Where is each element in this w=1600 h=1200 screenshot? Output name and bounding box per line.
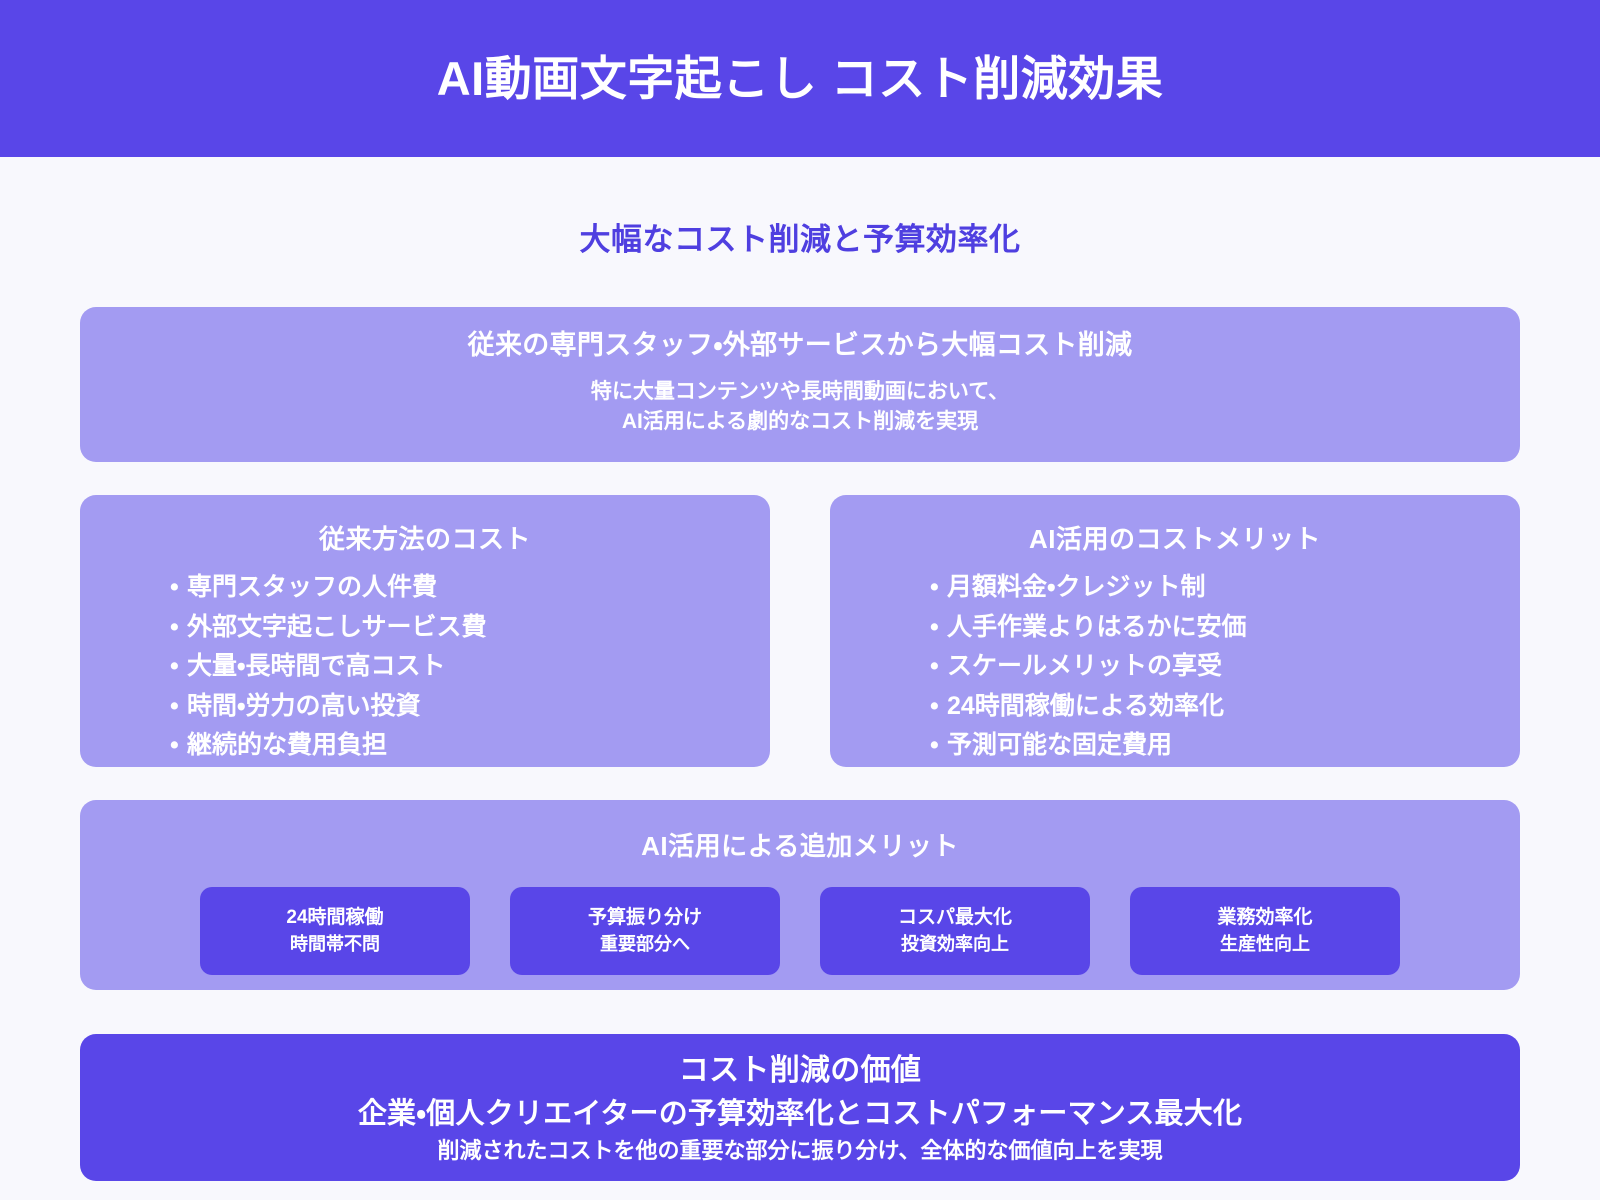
list-item: スケールメリットの享受 (930, 647, 1492, 687)
comparison-row: 従来方法のコスト 専門スタッフの人件費 外部文字起こしサービス費 大量・長時間で… (80, 495, 1520, 767)
benefit-chip-subtext: 時間帯不問 (290, 934, 380, 956)
comparison-card-traditional-cost: 従来方法のコスト 専門スタッフの人件費 外部文字起こしサービス費 大量・長時間で… (80, 495, 770, 767)
extra-benefits-chip-row: 24時間稼働 時間帯不問 予算振り分け 重要部分へ コスパ最大化 投資効率向上 … (80, 887, 1520, 975)
benefit-chip-subtext: 生産性向上 (1220, 934, 1310, 956)
benefit-chip-heading: 業務効率化 (1217, 907, 1312, 930)
page-title: AI動画文字起こし コスト削減効果 (437, 53, 1164, 105)
benefit-chip-subtext: 重要部分へ (600, 934, 690, 956)
extra-benefits-title: AI活用による追加メリット (80, 826, 1520, 863)
list-item: 大量・長時間で高コスト (170, 647, 742, 687)
page-header: AI動画文字起こし コスト削減効果 (0, 0, 1600, 157)
benefit-chip-heading: 24時間稼働 (286, 907, 383, 930)
benefit-chip-cost-performance: コスパ最大化 投資効率向上 (820, 887, 1090, 975)
benefit-chip-24h-operation: 24時間稼働 時間帯不問 (200, 887, 470, 975)
footer-value-banner: コスト削減の価値 企業・個人クリエイターの予算効率化とコストパフォーマンス最大化… (80, 1034, 1520, 1181)
page-content: 大幅なコスト削減と予算効率化 従来の専門スタッフ・外部サービスから大幅コスト削減… (0, 214, 1600, 1181)
comparison-card-title: AI活用のコストメリット (858, 519, 1492, 556)
hero-title: 従来の専門スタッフ・外部サービスから大幅コスト削減 (120, 329, 1480, 363)
list-item: 継続的な費用負担 (170, 726, 742, 766)
benefit-chip-heading: コスパ最大化 (898, 907, 1012, 930)
comparison-card-ai-benefit: AI活用のコストメリット 月額料金・クレジット制 人手作業よりはるかに安価 スケ… (830, 495, 1520, 767)
list-item: 時間・労力の高い投資 (170, 687, 742, 727)
list-item: 人手作業よりはるかに安価 (930, 608, 1492, 648)
comparison-card-list: 月額料金・クレジット制 人手作業よりはるかに安価 スケールメリットの享受 24時… (858, 568, 1492, 766)
infographic-page: AI動画文字起こし コスト削減効果 大幅なコスト削減と予算効率化 従来の専門スタ… (0, 0, 1600, 1200)
list-item: 予測可能な固定費用 (930, 726, 1492, 766)
footer-main-text: 企業・個人クリエイターの予算効率化とコストパフォーマンス最大化 (120, 1096, 1480, 1134)
benefit-chip-work-efficiency: 業務効率化 生産性向上 (1130, 887, 1400, 975)
section-subtitle: 大幅なコスト削減と予算効率化 (80, 214, 1520, 259)
footer-title: コスト削減の価値 (120, 1052, 1480, 1090)
comparison-card-title: 従来方法のコスト (108, 519, 742, 556)
benefit-chip-budget-allocation: 予算振り分け 重要部分へ (510, 887, 780, 975)
benefit-chip-subtext: 投資効率向上 (901, 934, 1009, 956)
list-item: 専門スタッフの人件費 (170, 568, 742, 608)
benefit-chip-heading: 予算振り分け (588, 907, 702, 930)
hero-subtext: 特に大量コンテンツや長時間動画において、 AI活用による劇的なコスト削減を実現 (120, 377, 1480, 438)
footer-note-text: 削減されたコストを他の重要な部分に振り分け、全体的な価値向上を実現 (120, 1137, 1480, 1166)
hero-subtext-line-2: AI活用による劇的なコスト削減を実現 (120, 407, 1480, 437)
extra-benefits-card: AI活用による追加メリット 24時間稼働 時間帯不問 予算振り分け 重要部分へ … (80, 800, 1520, 990)
hero-summary-card: 従来の専門スタッフ・外部サービスから大幅コスト削減 特に大量コンテンツや長時間動… (80, 307, 1520, 462)
list-item: 月額料金・クレジット制 (930, 568, 1492, 608)
list-item: 外部文字起こしサービス費 (170, 608, 742, 648)
list-item: 24時間稼働による効率化 (930, 687, 1492, 727)
comparison-card-list: 専門スタッフの人件費 外部文字起こしサービス費 大量・長時間で高コスト 時間・労… (108, 568, 742, 766)
hero-subtext-line-1: 特に大量コンテンツや長時間動画において、 (120, 377, 1480, 407)
